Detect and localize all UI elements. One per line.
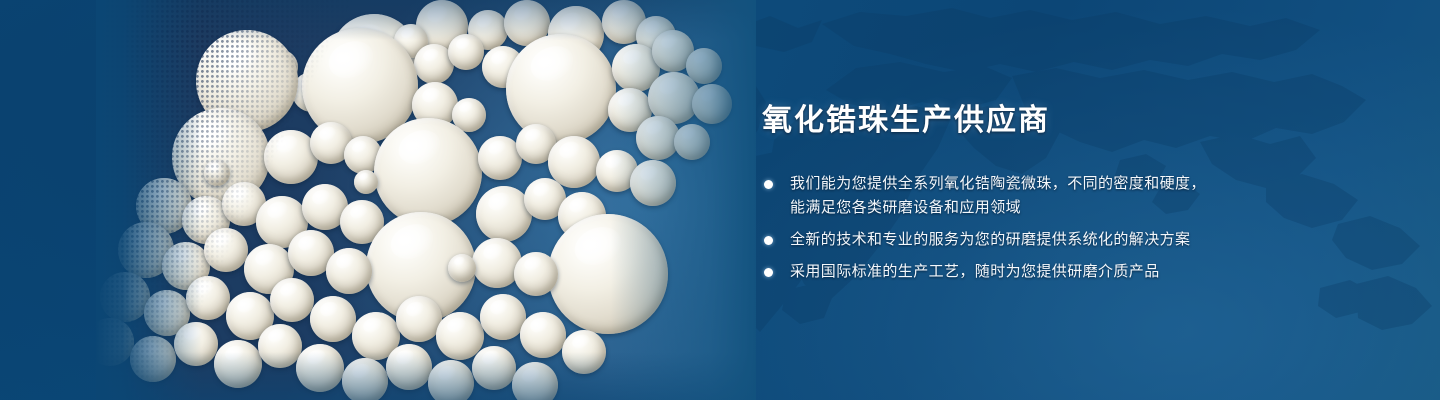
list-item: 采用国际标准的生产工艺，随时为您提供研磨介质产品 <box>762 260 1402 284</box>
bullet-dot-icon <box>764 180 773 189</box>
list-item: 我们能为您提供全系列氧化锆陶瓷微珠，不同的密度和硬度， 能满足您各类研磨设备和应… <box>762 172 1402 220</box>
list-item: 全新的技术和专业的服务为您的研磨提供系统化的解决方案 <box>762 228 1402 252</box>
zirconia-beads-photo <box>96 0 756 400</box>
page-title: 氧化锆珠生产供应商 <box>762 104 1402 139</box>
list-item-line1: 全新的技术和专业的服务为您的研磨提供系统化的解决方案 <box>790 231 1190 248</box>
list-item-line1: 我们能为您提供全系列氧化锆陶瓷微珠，不同的密度和硬度， <box>790 175 1206 192</box>
list-item-line1: 采用国际标准的生产工艺，随时为您提供研磨介质产品 <box>790 263 1160 280</box>
bullet-dot-icon <box>764 268 773 277</box>
photo-edge-fade <box>96 0 756 400</box>
list-item-line2: 能满足您各类研磨设备和应用领域 <box>790 196 1402 220</box>
promo-banner: 氧化锆珠生产供应商 我们能为您提供全系列氧化锆陶瓷微珠，不同的密度和硬度， 能满… <box>0 0 1440 400</box>
banner-text-column: 氧化锆珠生产供应商 我们能为您提供全系列氧化锆陶瓷微珠，不同的密度和硬度， 能满… <box>762 104 1402 284</box>
feature-list: 我们能为您提供全系列氧化锆陶瓷微珠，不同的密度和硬度， 能满足您各类研磨设备和应… <box>762 172 1402 284</box>
bullet-dot-icon <box>764 236 773 245</box>
